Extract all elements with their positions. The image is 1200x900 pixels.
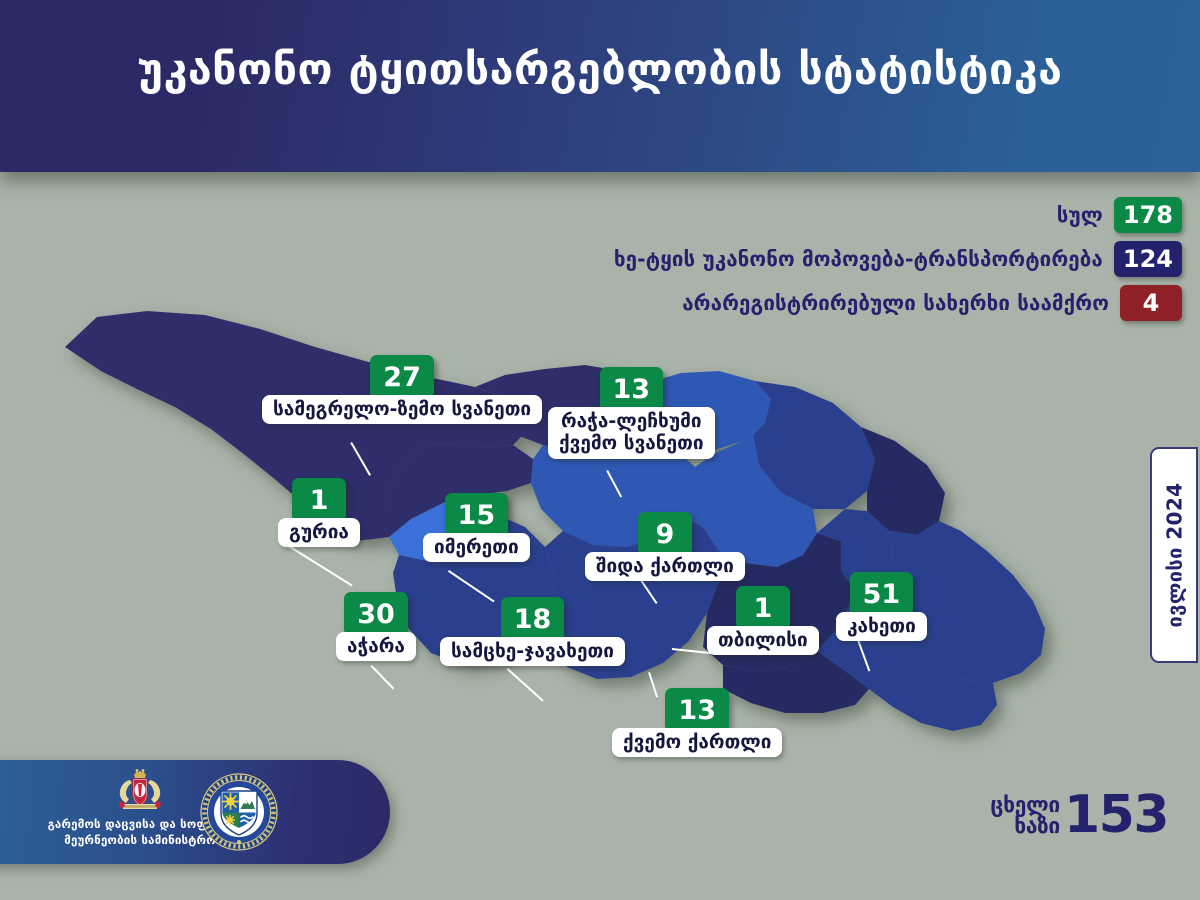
page-title: უკანონო ტყითსარგებლობის სტატისტიკა — [0, 48, 1200, 93]
map-marker-kvemo-kartli[interactable]: 13 ქვემო ქართლი — [612, 688, 782, 757]
marker-value: 13 — [665, 688, 729, 732]
marker-label: სამეგრელო-ზემო სვანეთი — [262, 395, 542, 424]
map-marker-adjara[interactable]: 30 აჭარა — [336, 592, 416, 661]
map-marker-kakheti[interactable]: 51 კახეთი — [836, 572, 927, 641]
legend: სულ 178 ხე-ტყის უკანონო მოპოვება-ტრანსპო… — [614, 197, 1182, 321]
agency-seal-icon — [200, 773, 278, 851]
hotline-label: ცხელი ხაზი — [990, 795, 1060, 838]
legend-row-illegal-logging-transport: ხე-ტყის უკანონო მოპოვება-ტრანსპორტირება … — [614, 241, 1182, 277]
legend-row-total: სულ 178 — [1057, 197, 1182, 233]
date-label: ივლისი 2024 — [1162, 483, 1186, 628]
date-card: ივლისი 2024 — [1150, 447, 1198, 663]
map-marker-samegrelo-zemo-svaneti[interactable]: 27 სამეგრელო-ზემო სვანეთი — [262, 355, 542, 424]
legend-value-badge: 178 — [1114, 197, 1182, 233]
georgia-coat-of-arms-icon — [107, 768, 173, 814]
map-marker-racha-lechkhumi[interactable]: 13 რაჭა-ლეჩხუმი ქვემო სვანეთი — [548, 367, 715, 459]
marker-label: იმერეთი — [423, 533, 530, 562]
marker-value: 18 — [501, 597, 565, 641]
hotline-number: 153 — [1064, 792, 1168, 840]
legend-label: ხე-ტყის უკანონო მოპოვება-ტრანსპორტირება — [614, 247, 1103, 271]
marker-value: 9 — [638, 512, 692, 556]
legend-label: სულ — [1057, 203, 1103, 227]
marker-label: აჭარა — [336, 632, 416, 661]
marker-value: 27 — [370, 355, 434, 399]
marker-value: 1 — [292, 478, 346, 522]
map-marker-tbilisi[interactable]: 1 თბილისი — [707, 586, 819, 655]
marker-value: 30 — [344, 592, 408, 636]
marker-label: კახეთი — [836, 612, 927, 641]
footer-bar: გარემოს დაცვისა და სოფლის მეურნეობის სამ… — [0, 760, 390, 864]
marker-label: თბილისი — [707, 626, 819, 655]
marker-label: სამცხე-ჯავახეთი — [440, 637, 625, 666]
map-marker-imereti[interactable]: 15 იმერეთი — [423, 493, 530, 562]
map-marker-shida-kartli[interactable]: 9 შიდა ქართლი — [585, 512, 745, 581]
map-marker-samtskhe-javakheti[interactable]: 18 სამცხე-ჯავახეთი — [440, 597, 625, 666]
legend-value-badge: 4 — [1120, 285, 1182, 321]
marker-label: ქვემო ქართლი — [612, 728, 782, 757]
hotline: ცხელი ხაზი 153 — [990, 792, 1168, 840]
marker-label: რაჭა-ლეჩხუმი ქვემო სვანეთი — [548, 407, 715, 459]
header-band: უკანონო ტყითსარგებლობის სტატისტიკა — [0, 0, 1200, 172]
marker-value: 13 — [600, 367, 664, 411]
infographic-poster: უკანონო ტყითსარგებლობის სტატისტიკა — [0, 0, 1200, 900]
legend-value-badge: 124 — [1114, 241, 1182, 277]
marker-label: შიდა ქართლი — [585, 552, 745, 581]
legend-row-unregistered-sawmill: არარეგისტრირებული სახერხი საამქრო 4 — [682, 285, 1182, 321]
legend-label: არარეგისტრირებული სახერხი საამქრო — [682, 291, 1109, 315]
marker-value: 51 — [850, 572, 914, 616]
marker-label: გურია — [278, 518, 360, 547]
marker-value: 1 — [736, 586, 790, 630]
marker-value: 15 — [445, 493, 509, 537]
map-marker-guria[interactable]: 1 გურია — [278, 478, 360, 547]
